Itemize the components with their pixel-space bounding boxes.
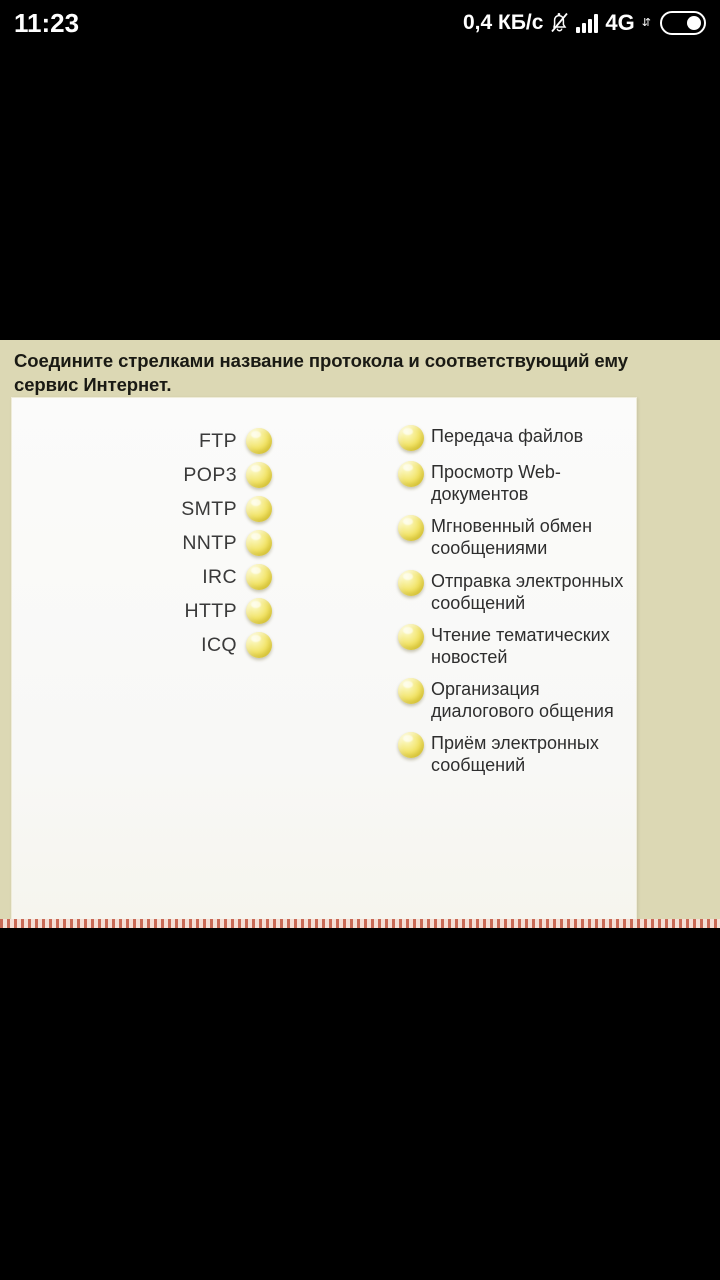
service-label: Передача файлов — [431, 424, 583, 447]
connector-dot-icon[interactable] — [246, 496, 272, 522]
protocol-label: IRC — [202, 566, 237, 589]
data-transfer-arrows-icon: ⇵ — [642, 18, 650, 28]
protocol-label: POP3 — [183, 464, 237, 487]
service-label: Организация диалогового общения — [431, 677, 643, 722]
list-item[interactable]: POP3 — [12, 458, 272, 492]
bell-muted-icon — [550, 12, 569, 34]
slide-title: Соедините стрелками название протокола и… — [14, 349, 694, 396]
network-speed-text: 0,4 КБ/с — [463, 11, 543, 35]
list-item[interactable]: HTTP — [12, 594, 272, 628]
connector-dot-icon[interactable] — [246, 530, 272, 556]
service-column: Передача файлов Просмотр Web-документов … — [398, 424, 643, 786]
list-item[interactable]: NNTP — [12, 526, 272, 560]
list-item[interactable]: Организация диалогового общения — [398, 677, 643, 722]
list-item[interactable]: Просмотр Web-документов — [398, 460, 643, 505]
list-item[interactable]: Отправка электронных сообщений — [398, 569, 643, 614]
list-item[interactable]: IRC — [12, 560, 272, 594]
status-icons-group: 0,4 КБ/с 4G ⇵ — [463, 10, 706, 36]
network-type-text: 4G — [605, 10, 634, 36]
connector-dot-icon[interactable] — [398, 425, 424, 451]
list-item[interactable]: SMTP — [12, 492, 272, 526]
slide-bottom-border — [0, 919, 720, 928]
connector-dot-icon[interactable] — [246, 428, 272, 454]
status-clock: 11:23 — [14, 8, 79, 39]
service-label: Чтение тематических новостей — [431, 623, 643, 668]
connector-dot-icon[interactable] — [398, 678, 424, 704]
service-label: Мгновенный обмен сообщениями — [431, 514, 643, 559]
status-bar: 11:23 0,4 КБ/с 4G ⇵ — [0, 0, 720, 46]
presentation-slide: Соедините стрелками название протокола и… — [0, 340, 720, 928]
battery-icon — [660, 11, 706, 35]
protocol-label: NNTP — [182, 532, 237, 555]
list-item[interactable]: Чтение тематических новостей — [398, 623, 643, 668]
matching-exercise-panel: FTP POP3 SMTP NNTP IRC HTTP — [11, 397, 637, 920]
connector-dot-icon[interactable] — [246, 462, 272, 488]
connector-dot-icon[interactable] — [246, 632, 272, 658]
connector-dot-icon[interactable] — [398, 461, 424, 487]
connector-dot-icon[interactable] — [398, 515, 424, 541]
list-item[interactable]: Передача файлов — [398, 424, 643, 451]
connector-dot-icon[interactable] — [246, 598, 272, 624]
protocol-label: FTP — [199, 430, 237, 453]
list-item[interactable]: ICQ — [12, 628, 272, 662]
protocol-label: HTTP — [184, 600, 237, 623]
connector-dot-icon[interactable] — [398, 624, 424, 650]
list-item[interactable]: FTP — [12, 424, 272, 458]
list-item[interactable]: Мгновенный обмен сообщениями — [398, 514, 643, 559]
list-item[interactable]: Приём электронных сообщений — [398, 731, 643, 776]
connector-dot-icon[interactable] — [398, 732, 424, 758]
service-label: Отправка электронных сообщений — [431, 569, 643, 614]
connector-dot-icon[interactable] — [398, 570, 424, 596]
protocol-label: SMTP — [181, 498, 237, 521]
protocol-column: FTP POP3 SMTP NNTP IRC HTTP — [12, 424, 272, 662]
connector-dot-icon[interactable] — [246, 564, 272, 590]
protocol-label: ICQ — [201, 634, 237, 657]
service-label: Просмотр Web-документов — [431, 460, 643, 505]
service-label: Приём электронных сообщений — [431, 731, 643, 776]
signal-bars-icon — [576, 13, 598, 33]
